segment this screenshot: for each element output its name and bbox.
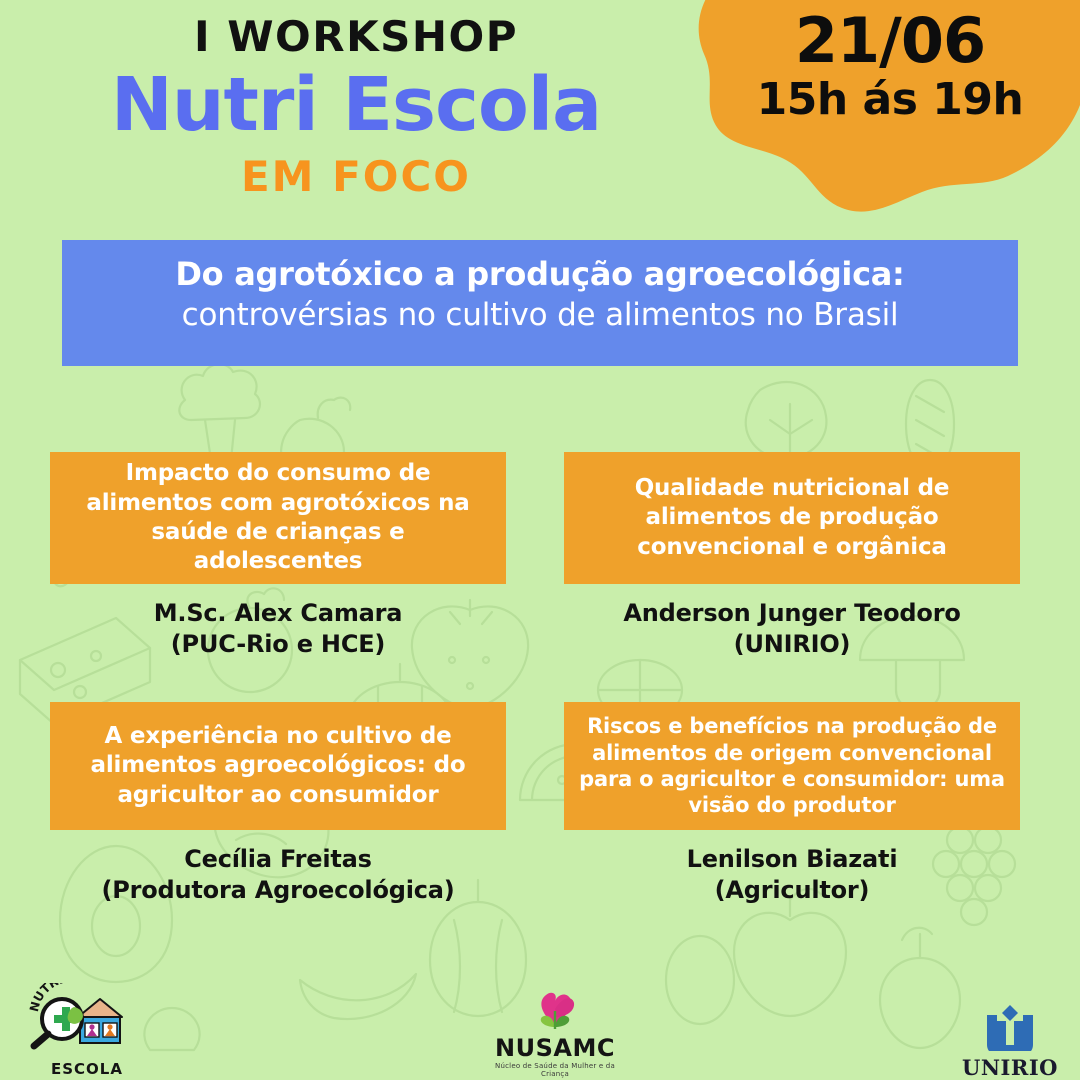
- unirio-mark-icon: [955, 1003, 1065, 1051]
- poster-root: 21/06 15h ás 19h I WORKSHOP Nutri Escola…: [0, 0, 1080, 1080]
- talk-title-3: A experiência no cultivo de alimentos ag…: [64, 722, 492, 810]
- talk-title-2: Qualidade nutricional de alimentos de pr…: [578, 474, 1006, 562]
- talks-row-1: Impacto do consumo de alimentos com agro…: [0, 452, 1080, 702]
- nusamc-heart-leaf-icon: [480, 985, 630, 1031]
- date-day: 21/06: [700, 8, 1080, 73]
- talk-card-2: Qualidade nutricional de alimentos de pr…: [564, 452, 1020, 659]
- theme-title-line1: Do agrotóxico a produção agroecológica:: [175, 254, 904, 295]
- talk-title-box-2: Qualidade nutricional de alimentos de pr…: [564, 452, 1020, 584]
- talk-speaker-1: M.Sc. Alex Camara (PUC-Rio e HCE): [50, 598, 506, 659]
- talk-speaker-4: Lenilson Biazati (Agricultor): [564, 844, 1020, 905]
- date-hours: 15h ás 19h: [700, 75, 1080, 126]
- talk-card-4: Riscos e benefícios na produção de alime…: [564, 702, 1020, 905]
- talk-title-box-3: A experiência no cultivo de alimentos ag…: [50, 702, 506, 830]
- unirio-caption: UNIRIO: [955, 1057, 1065, 1078]
- nusamc-caption: NUSAMC: [480, 1036, 630, 1060]
- poster-header: I WORKSHOP Nutri Escola EM FOCO: [0, 14, 712, 200]
- talk-card-3: A experiência no cultivo de alimentos ag…: [50, 702, 506, 905]
- talk-title-box-4: Riscos e benefícios na produção de alime…: [564, 702, 1020, 830]
- logo-nusamc: NUSAMC Núcleo de Saúde da Mulher e da Cr…: [480, 985, 630, 1078]
- logo-unirio: UNIRIO: [955, 1003, 1065, 1078]
- workshop-kicker: I WORKSHOP: [0, 14, 712, 60]
- nutri-escola-caption: ESCOLA: [22, 1060, 152, 1078]
- nusamc-subtitle: Núcleo de Saúde da Mulher e da Criança: [480, 1062, 630, 1078]
- event-subtitle: EM FOCO: [0, 154, 712, 200]
- talks-grid: Impacto do consumo de alimentos com agro…: [0, 452, 1080, 952]
- talk-card-1: Impacto do consumo de alimentos com agro…: [50, 452, 506, 659]
- theme-title-line2: controvérsias no cultivo de alimentos no…: [182, 295, 899, 335]
- talk-speaker-3: Cecília Freitas (Produtora Agroecológica…: [50, 844, 506, 905]
- nutri-escola-mark-icon: NUTRI: [22, 983, 152, 1057]
- theme-banner: Do agrotóxico a produção agroecológica: …: [62, 240, 1018, 366]
- footer-logos: NUTRI: [0, 980, 1080, 1080]
- event-brand-title: Nutri Escola: [0, 62, 712, 149]
- talk-speaker-2: Anderson Junger Teodoro (UNIRIO): [564, 598, 1020, 659]
- date-badge: 21/06 15h ás 19h: [700, 8, 1080, 126]
- talk-title-1: Impacto do consumo de alimentos com agro…: [64, 459, 492, 577]
- talks-row-2: A experiência no cultivo de alimentos ag…: [0, 702, 1080, 952]
- talk-title-4: Riscos e benefícios na produção de alime…: [578, 713, 1006, 819]
- talk-title-box-1: Impacto do consumo de alimentos com agro…: [50, 452, 506, 584]
- logo-nutri-escola: NUTRI: [22, 983, 152, 1078]
